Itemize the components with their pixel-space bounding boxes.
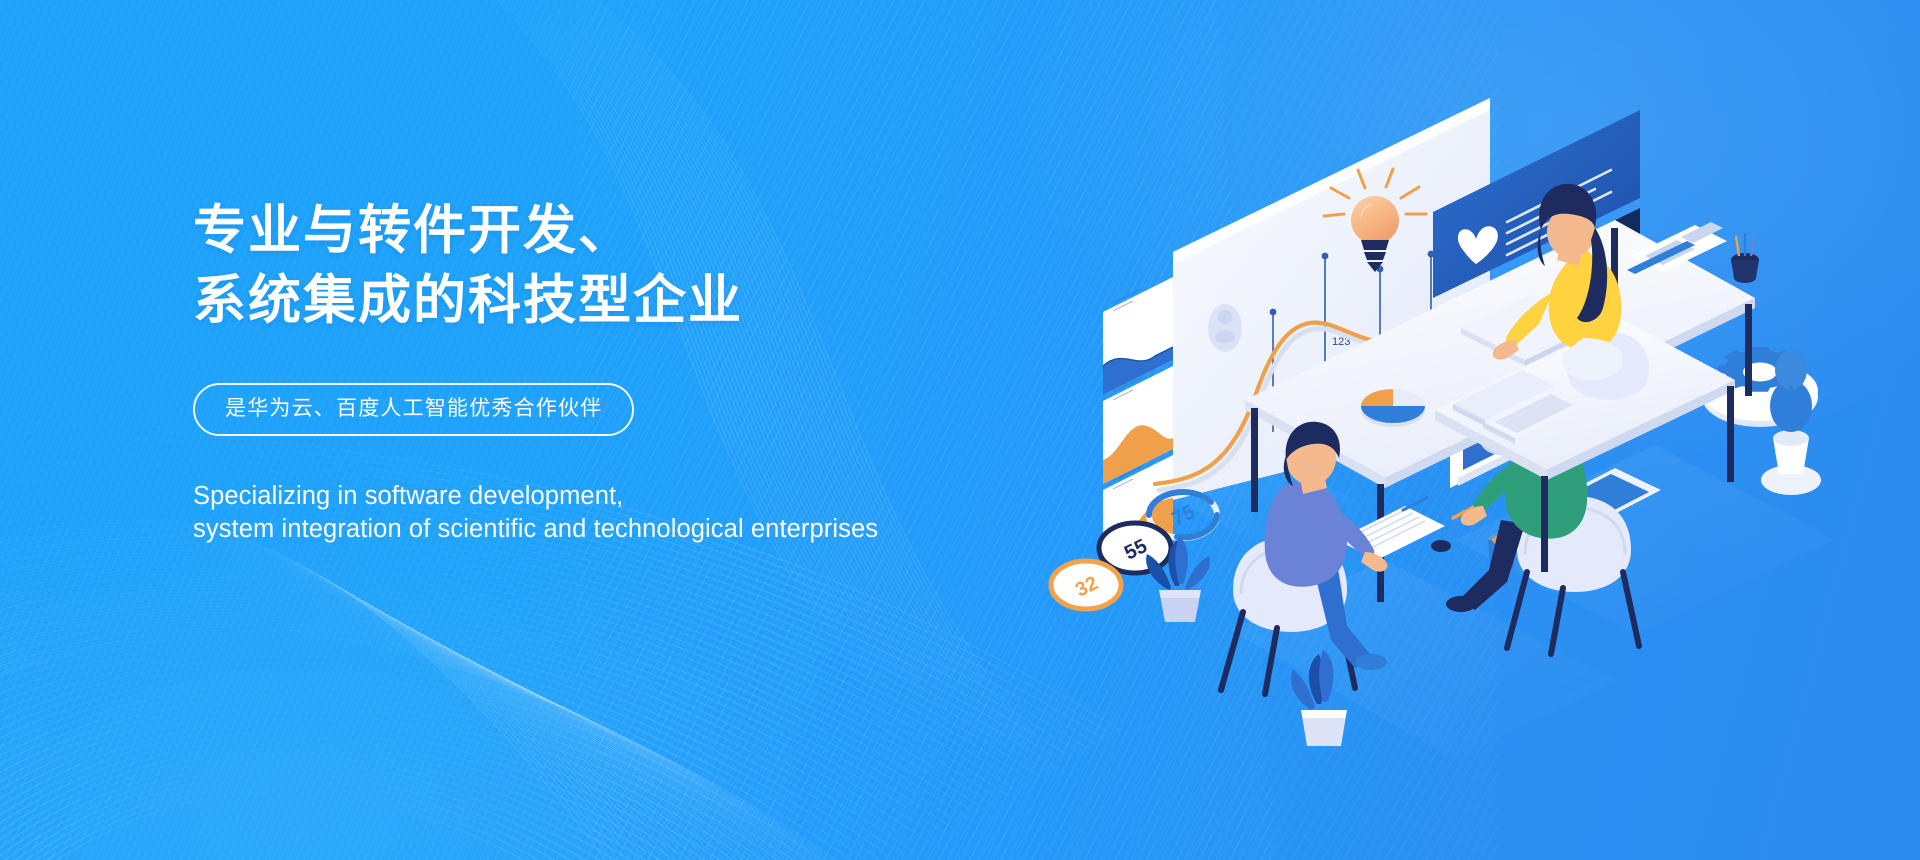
pie-chart-1 — [1361, 389, 1425, 427]
partner-badge: 是华为云、百度人工智能优秀合作伙伴 — [193, 383, 634, 436]
hero-copy: 专业与转件开发、 系统集成的科技型企业 是华为云、百度人工智能优秀合作伙伴 Sp… — [193, 196, 953, 546]
user-avatar-icon — [1208, 304, 1242, 352]
hero-subtitle-english: Specializing in software development, sy… — [193, 480, 953, 546]
page-title: 专业与转件开发、 系统集成的科技型企业 — [193, 196, 953, 336]
gauge-32: 32 — [1051, 561, 1121, 609]
hero-banner: 专业与转件开发、 系统集成的科技型企业 是华为云、百度人工智能优秀合作伙伴 Sp… — [0, 0, 1920, 860]
hero-illustration: 65 123 97 81 — [1055, 70, 1885, 770]
pencil-cup — [1731, 233, 1759, 283]
isometric-scene: 65 123 97 81 — [1055, 70, 1885, 770]
